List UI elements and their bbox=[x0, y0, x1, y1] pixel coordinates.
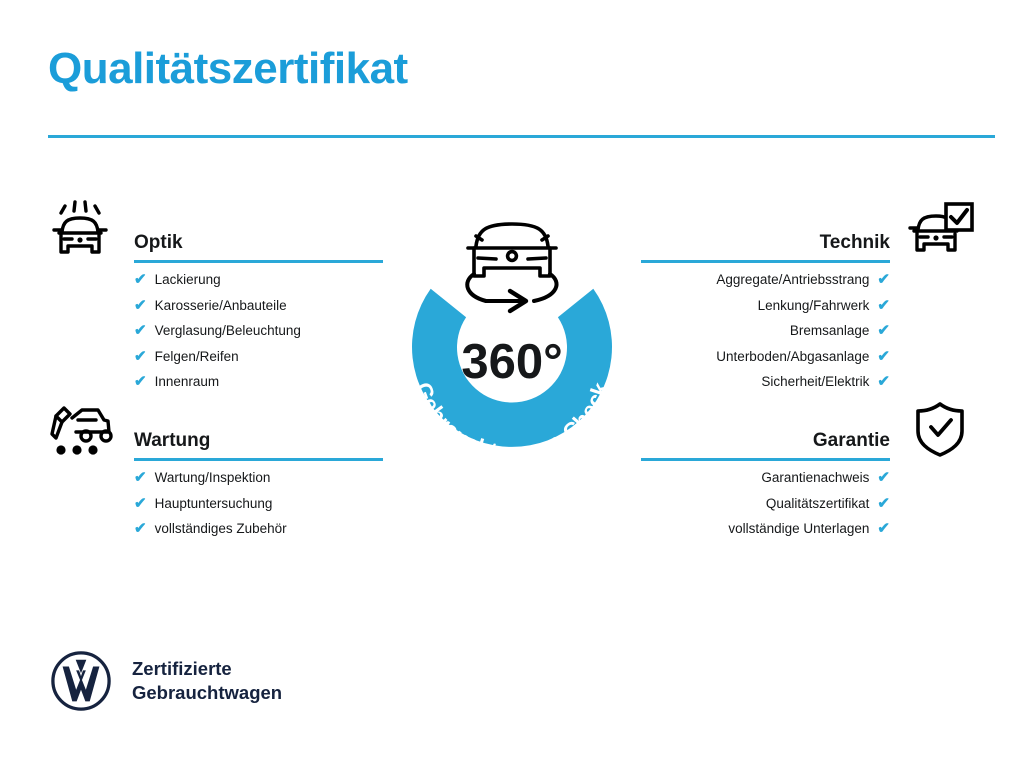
list-item: Bremsanlage ✔ bbox=[641, 323, 986, 338]
list-item: ✔ Hauptuntersuchung bbox=[38, 496, 383, 511]
section-divider-optik bbox=[134, 260, 383, 263]
list-item-label: Karosserie/Anbauteile bbox=[155, 299, 287, 313]
check-icon: ✔ bbox=[134, 272, 147, 287]
car-service-tool-icon bbox=[48, 398, 120, 460]
list-item-label: Lackierung bbox=[155, 273, 221, 287]
check-icon: ✔ bbox=[877, 298, 890, 313]
section-header-garantie: Garantie bbox=[641, 398, 986, 470]
list-item-label: vollständiges Zubehör bbox=[155, 522, 287, 536]
check-icon: ✔ bbox=[134, 349, 147, 364]
check-icon: ✔ bbox=[877, 272, 890, 287]
list-item: Qualitätszertifikat ✔ bbox=[641, 496, 986, 511]
list-item: Unterboden/Abgasanlage ✔ bbox=[641, 349, 986, 364]
list-item: ✔ Karosserie/Anbauteile bbox=[38, 298, 383, 313]
check-icon: ✔ bbox=[877, 323, 890, 338]
check-icon: ✔ bbox=[877, 374, 890, 389]
badge-center-label: 360° bbox=[461, 335, 562, 389]
list-item: Lenkung/Fahrwerk ✔ bbox=[641, 298, 986, 313]
check-icon: ✔ bbox=[877, 521, 890, 536]
check-icon: ✔ bbox=[877, 470, 890, 485]
car-shine-icon bbox=[48, 200, 120, 262]
check-icon: ✔ bbox=[134, 323, 147, 338]
list-item-label: Hauptuntersuchung bbox=[155, 497, 273, 511]
list-item-label: Verglasung/Beleuchtung bbox=[155, 324, 301, 338]
section-technik: Technik Aggregate/Antriebsstrang ✔ Lenku… bbox=[641, 200, 986, 400]
section-title-technik: Technik bbox=[820, 233, 890, 252]
page-title: Qualitätszertifikat bbox=[48, 47, 408, 91]
shield-check-icon bbox=[904, 398, 976, 460]
list-item: Aggregate/Antriebsstrang ✔ bbox=[641, 272, 986, 287]
list-item: ✔ vollständiges Zubehör bbox=[38, 521, 383, 536]
section-divider-wartung bbox=[134, 458, 383, 461]
check-icon: ✔ bbox=[134, 521, 147, 536]
section-garantie: Garantie Garantienachweis ✔ Qualitätszer… bbox=[641, 398, 986, 547]
list-item: vollständige Unterlagen ✔ bbox=[641, 521, 986, 536]
footer-line-2: Gebrauchtwagen bbox=[132, 681, 282, 705]
vw-logo-icon bbox=[50, 650, 112, 712]
list-item: ✔ Wartung/Inspektion bbox=[38, 470, 383, 485]
footer-brand-text: Zertifizierte Gebrauchtwagen bbox=[132, 657, 282, 704]
list-item-label: Unterboden/Abgasanlage bbox=[716, 350, 869, 364]
check-icon: ✔ bbox=[877, 496, 890, 511]
footer-line-1: Zertifizierte bbox=[132, 657, 282, 681]
list-item: ✔ Lackierung bbox=[38, 272, 383, 287]
section-title-garantie: Garantie bbox=[813, 431, 890, 450]
list-item: ✔ Innenraum bbox=[38, 374, 383, 389]
section-header-technik: Technik bbox=[641, 200, 986, 272]
badge-360-gebrauchtwagen-check: Gebrauchtwagen-Check 360° bbox=[372, 192, 652, 492]
car-rotate-icon bbox=[467, 224, 556, 311]
list-item-label: Wartung/Inspektion bbox=[155, 471, 271, 485]
list-item-label: Sicherheit/Elektrik bbox=[761, 375, 869, 389]
list-item-label: Felgen/Reifen bbox=[155, 350, 239, 364]
check-list-optik: ✔ Lackierung ✔ Karosserie/Anbauteile ✔ V… bbox=[38, 272, 383, 389]
check-list-wartung: ✔ Wartung/Inspektion ✔ Hauptuntersuchung… bbox=[38, 470, 383, 536]
title-divider bbox=[48, 135, 995, 138]
section-wartung: Wartung ✔ Wartung/Inspektion ✔ Hauptunte… bbox=[38, 398, 383, 547]
check-list-technik: Aggregate/Antriebsstrang ✔ Lenkung/Fahrw… bbox=[641, 272, 986, 389]
check-icon: ✔ bbox=[134, 496, 147, 511]
check-list-garantie: Garantienachweis ✔ Qualitätszertifikat ✔… bbox=[641, 470, 986, 536]
list-item-label: Lenkung/Fahrwerk bbox=[758, 299, 870, 313]
check-icon: ✔ bbox=[134, 298, 147, 313]
list-item: Sicherheit/Elektrik ✔ bbox=[641, 374, 986, 389]
list-item-label: Garantienachweis bbox=[761, 471, 869, 485]
footer-brand-lockup: Zertifizierte Gebrauchtwagen bbox=[50, 650, 282, 712]
list-item-label: Bremsanlage bbox=[790, 324, 870, 338]
list-item: ✔ Felgen/Reifen bbox=[38, 349, 383, 364]
section-header-wartung: Wartung bbox=[38, 398, 383, 470]
check-icon: ✔ bbox=[134, 374, 147, 389]
section-header-optik: Optik bbox=[38, 200, 383, 272]
list-item-label: Innenraum bbox=[155, 375, 220, 389]
section-title-wartung: Wartung bbox=[134, 431, 210, 450]
list-item-label: Aggregate/Antriebsstrang bbox=[716, 273, 869, 287]
check-icon: ✔ bbox=[877, 349, 890, 364]
car-checkbox-icon bbox=[904, 200, 976, 262]
list-item: Garantienachweis ✔ bbox=[641, 470, 986, 485]
check-icon: ✔ bbox=[134, 470, 147, 485]
section-title-optik: Optik bbox=[134, 233, 183, 252]
section-divider-technik bbox=[641, 260, 890, 263]
section-optik: Optik ✔ Lackierung ✔ Karosserie/Anbautei… bbox=[38, 200, 383, 400]
list-item: ✔ Verglasung/Beleuchtung bbox=[38, 323, 383, 338]
list-item-label: Qualitätszertifikat bbox=[766, 497, 870, 511]
section-divider-garantie bbox=[641, 458, 890, 461]
list-item-label: vollständige Unterlagen bbox=[728, 522, 869, 536]
